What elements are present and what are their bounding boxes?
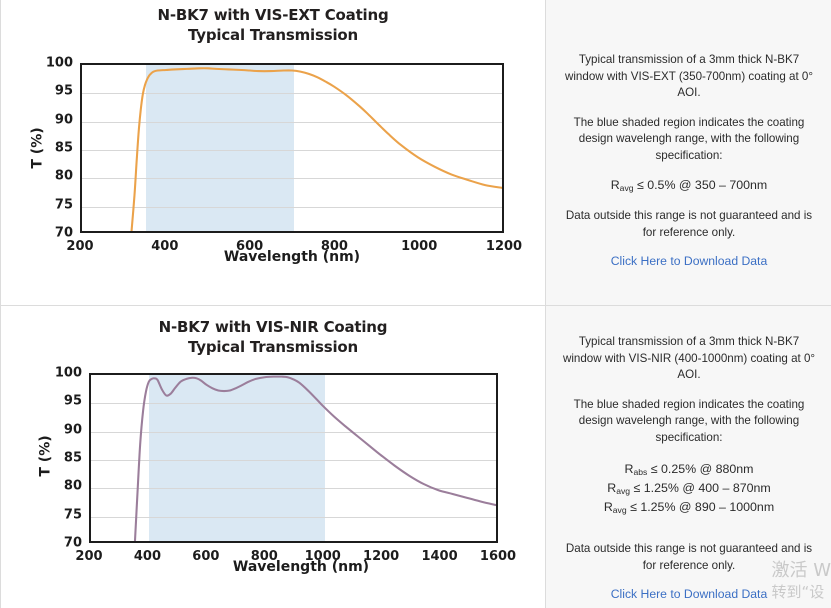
y-axis-tick: 100: [46, 56, 73, 71]
chart-title-line1: N-BK7 with VIS-NIR Coating: [1, 317, 545, 337]
spec-symbol: R: [607, 481, 616, 495]
spec-value: ≤ 0.5% @ 350 – 700nm: [634, 178, 768, 192]
x-axis-tick: 400: [151, 239, 178, 254]
y-axis-tick: 85: [64, 451, 82, 466]
y-axis-tick: 90: [55, 112, 73, 127]
chart-title-line1: N-BK7 with VIS-EXT Coating: [1, 5, 545, 25]
y-axis-tick: 90: [64, 422, 82, 437]
plot-area-vis-nir: 7075808590951002004006008001000120014001…: [89, 373, 498, 543]
y-axis-tick: 85: [55, 141, 73, 156]
spec-subscript: abs: [633, 467, 647, 477]
info-paragraph-1: Typical transmission of a 3mm thick N-BK…: [560, 334, 818, 384]
y-axis-label-vis-ext: T (%): [30, 127, 46, 168]
info-panel-vis-nir: Typical transmission of a 3mm thick N-BK…: [546, 306, 831, 608]
info-paragraph-2: The blue shaded region indicates the coa…: [560, 397, 818, 447]
spec-symbol: R: [611, 178, 620, 192]
curve-layer: [82, 65, 502, 231]
transmission-curve: [135, 377, 496, 541]
spec-subscript: avg: [616, 486, 630, 496]
spec-symbol: R: [604, 500, 613, 514]
spec-value: ≤ 1.25% @ 400 – 870nm: [630, 481, 771, 495]
y-axis-label-vis-nir: T (%): [38, 435, 54, 476]
x-axis-tick: 800: [321, 239, 348, 254]
spec-value: ≤ 0.25% @ 880nm: [647, 462, 753, 476]
plot-frame-vis-ext: [80, 63, 504, 233]
download-data-link-vis-nir[interactable]: Click Here to Download Data: [560, 587, 818, 601]
chart-title-vis-ext: N-BK7 with VIS-EXT Coating Typical Trans…: [1, 0, 545, 45]
y-axis-tick: 95: [55, 84, 73, 99]
curve-layer: [91, 375, 496, 541]
y-axis-tick: 80: [64, 479, 82, 494]
spec-subscript: avg: [613, 505, 627, 515]
y-axis-tick: 95: [64, 394, 82, 409]
chart-title-vis-nir: N-BK7 with VIS-NIR Coating Typical Trans…: [1, 306, 545, 357]
spec-list-vis-nir: Rabs ≤ 0.25% @ 880nmRavg ≤ 1.25% @ 400 –…: [560, 461, 818, 517]
spec-line: Rabs ≤ 0.25% @ 880nm: [560, 461, 818, 479]
info-paragraph-1: Typical transmission of a 3mm thick N-BK…: [560, 52, 818, 102]
y-axis-tick: 100: [55, 366, 82, 381]
download-data-link-vis-ext[interactable]: Click Here to Download Data: [560, 254, 818, 268]
plot-frame-vis-nir: [89, 373, 498, 543]
x-axis-label-vis-nir: Wavelength (nm): [89, 559, 513, 575]
panel-vis-ext: N-BK7 with VIS-EXT Coating Typical Trans…: [1, 0, 831, 305]
spec-line: Ravg ≤ 1.25% @ 890 – 1000nm: [560, 499, 818, 517]
spec-value: ≤ 1.25% @ 890 – 1000nm: [627, 500, 775, 514]
transmission-curve: [132, 68, 502, 231]
y-axis-tick: 75: [55, 197, 73, 212]
spec-subscript: avg: [620, 183, 634, 193]
plot-area-vis-ext: 70758085909510020040060080010001200: [80, 63, 504, 233]
info-paragraph-2: The blue shaded region indicates the coa…: [560, 115, 818, 165]
chart-title-line2: Typical Transmission: [1, 337, 545, 357]
x-axis-tick: 1000: [401, 239, 437, 254]
x-axis-tick: 1200: [486, 239, 522, 254]
spec-list-vis-ext: Ravg ≤ 0.5% @ 350 – 700nm: [560, 177, 818, 195]
chart-title-line2: Typical Transmission: [1, 25, 545, 45]
chart-card-vis-ext: N-BK7 with VIS-EXT Coating Typical Trans…: [1, 0, 546, 305]
spec-line: Ravg ≤ 1.25% @ 400 – 870nm: [560, 480, 818, 498]
y-axis-tick: 75: [64, 507, 82, 522]
x-axis-label-vis-ext: Wavelength (nm): [80, 249, 504, 265]
y-axis-tick: 80: [55, 169, 73, 184]
info-paragraph-3: Data outside this range is not guarantee…: [560, 208, 818, 241]
info-panel-vis-ext: Typical transmission of a 3mm thick N-BK…: [546, 0, 831, 305]
spec-line: Ravg ≤ 0.5% @ 350 – 700nm: [560, 177, 818, 195]
x-axis-tick: 200: [66, 239, 93, 254]
x-axis-tick: 600: [236, 239, 263, 254]
info-paragraph-3: Data outside this range is not guarantee…: [560, 541, 818, 574]
transmission-spec-page: N-BK7 with VIS-EXT Coating Typical Trans…: [0, 0, 831, 608]
